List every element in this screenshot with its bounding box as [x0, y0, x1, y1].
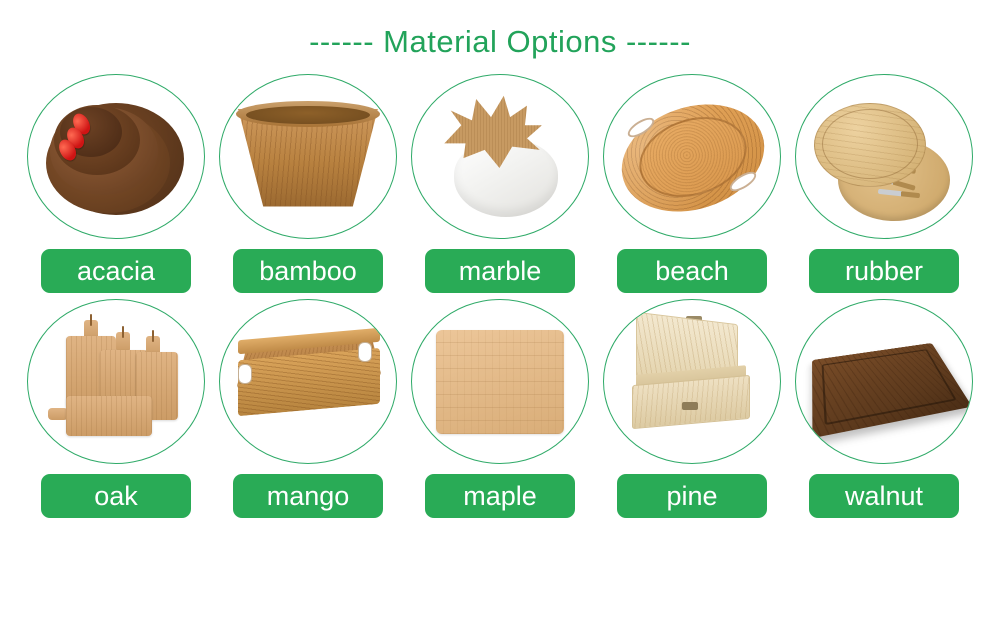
- material-card-marble[interactable]: marble: [410, 74, 590, 293]
- mango-handle-left: [238, 364, 252, 384]
- material-image-oak: [27, 299, 205, 464]
- material-image-mango: [219, 299, 397, 464]
- material-label-walnut[interactable]: walnut: [809, 474, 959, 518]
- mango-artwork: [232, 312, 384, 452]
- mango-handle-right: [358, 342, 372, 362]
- material-card-maple[interactable]: maple: [410, 299, 590, 518]
- material-label-oak[interactable]: oak: [41, 474, 191, 518]
- walnut-artwork: [808, 312, 960, 452]
- board-handle-4: [48, 408, 68, 420]
- beach-artwork: [616, 87, 768, 227]
- material-card-oak[interactable]: oak: [26, 299, 206, 518]
- rubber-artwork: [808, 87, 960, 227]
- material-label-marble[interactable]: marble: [425, 249, 575, 293]
- material-image-acacia: [27, 74, 205, 239]
- material-label-mango[interactable]: mango: [233, 474, 383, 518]
- material-options-page: ------ Material Options ------: [0, 24, 1000, 634]
- material-card-acacia[interactable]: acacia: [26, 74, 206, 293]
- material-label-bamboo[interactable]: bamboo: [233, 249, 383, 293]
- material-image-bamboo: [219, 74, 397, 239]
- material-card-rubber[interactable]: rubber: [794, 74, 974, 293]
- oak-artwork: [40, 312, 192, 452]
- oak-board-4: [66, 396, 152, 436]
- box-clasp: [682, 402, 698, 410]
- pine-artwork: [616, 312, 768, 452]
- material-card-bamboo[interactable]: bamboo: [218, 74, 398, 293]
- board-cord-3: [152, 330, 154, 342]
- material-card-walnut[interactable]: walnut: [794, 299, 974, 518]
- board-cord-2: [122, 326, 124, 338]
- maple-artwork: [424, 312, 576, 452]
- material-label-acacia[interactable]: acacia: [41, 249, 191, 293]
- material-label-beach[interactable]: beach: [617, 249, 767, 293]
- material-label-maple[interactable]: maple: [425, 474, 575, 518]
- acacia-artwork: [40, 87, 192, 227]
- cheeseboard-groove: [822, 109, 918, 179]
- bamboo-artwork: [232, 87, 384, 227]
- material-grid: acacia bamboo: [0, 74, 1000, 518]
- material-image-walnut: [795, 299, 973, 464]
- material-image-beach: [603, 74, 781, 239]
- material-card-beach[interactable]: beach: [602, 74, 782, 293]
- material-row-2: oak mango: [0, 299, 1000, 518]
- material-card-mango[interactable]: mango: [218, 299, 398, 518]
- material-image-marble: [411, 74, 589, 239]
- material-image-rubber: [795, 74, 973, 239]
- material-card-pine[interactable]: pine: [602, 299, 782, 518]
- material-row-1: acacia bamboo: [0, 74, 1000, 293]
- material-image-pine: [603, 299, 781, 464]
- board-cord-1: [90, 314, 92, 326]
- marble-artwork: [424, 87, 576, 227]
- material-label-pine[interactable]: pine: [617, 474, 767, 518]
- bowl-interior: [246, 106, 370, 124]
- page-title: ------ Material Options ------: [0, 24, 1000, 60]
- maple-cutting-board: [436, 330, 564, 434]
- material-image-maple: [411, 299, 589, 464]
- material-label-rubber[interactable]: rubber: [809, 249, 959, 293]
